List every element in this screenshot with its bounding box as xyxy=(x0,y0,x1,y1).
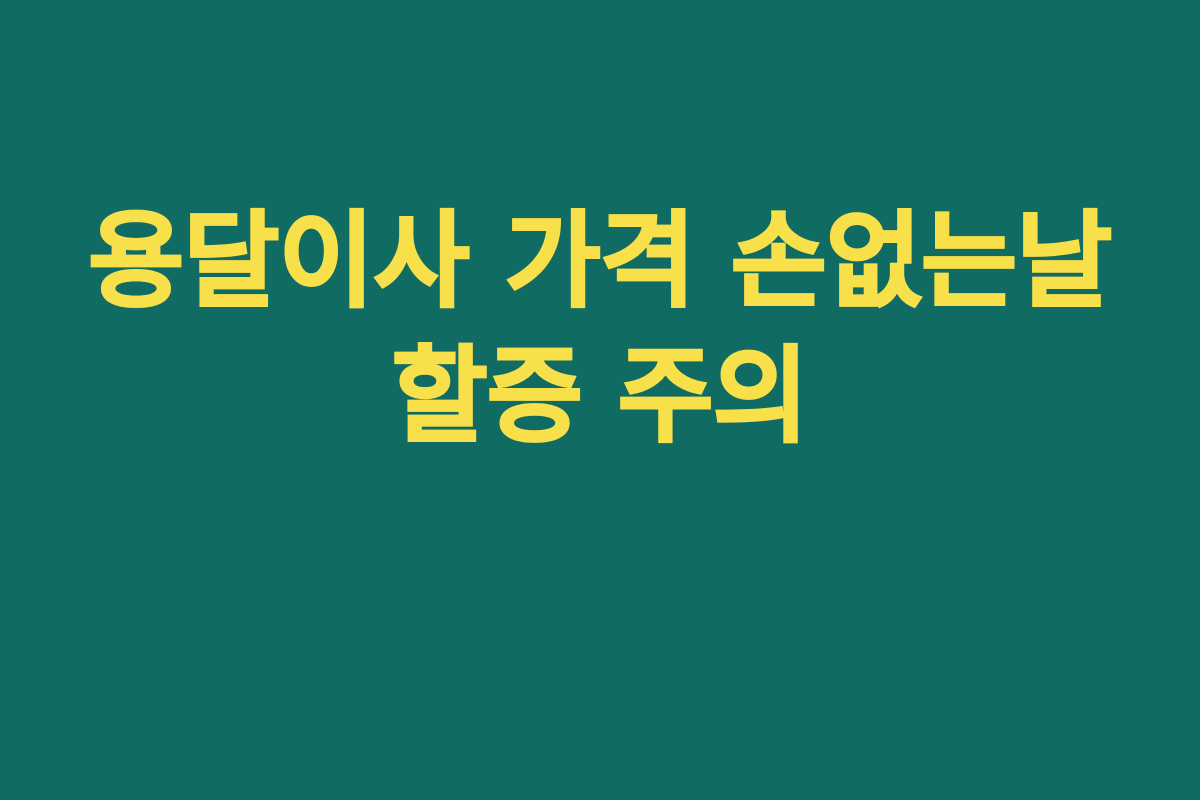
headline-line-2: 할증 주의 xyxy=(392,330,808,463)
headline-block: 용달이사 가격 손없는날 할증 주의 xyxy=(0,0,1200,800)
banner-canvas: 용달이사 가격 손없는날 할증 주의 xyxy=(0,0,1200,800)
headline-line-1: 용달이사 가격 손없는날 xyxy=(88,195,1111,328)
